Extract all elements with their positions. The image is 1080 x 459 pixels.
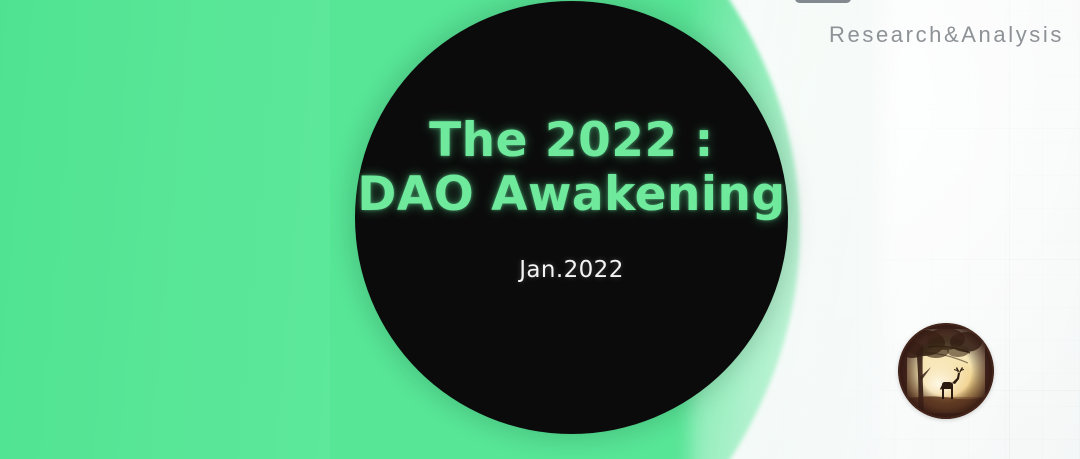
- page-title-line-2: DAO Awakening: [357, 168, 785, 221]
- section-kicker-label: Research&Analysis: [829, 22, 1064, 48]
- avatar[interactable]: [898, 323, 994, 419]
- page-title-line-1: The 2022 :: [429, 114, 714, 167]
- report-cover-banner: The 2022 : DAO Awakening Jan.2022 Resear…: [0, 0, 1080, 459]
- title-block: The 2022 : DAO Awakening Jan.2022: [355, 1, 788, 434]
- green-left-panel: [0, 0, 330, 459]
- publication-date: Jan.2022: [519, 257, 624, 283]
- deer-sunset-icon: [898, 323, 994, 419]
- top-cropped-pill: [795, 0, 851, 3]
